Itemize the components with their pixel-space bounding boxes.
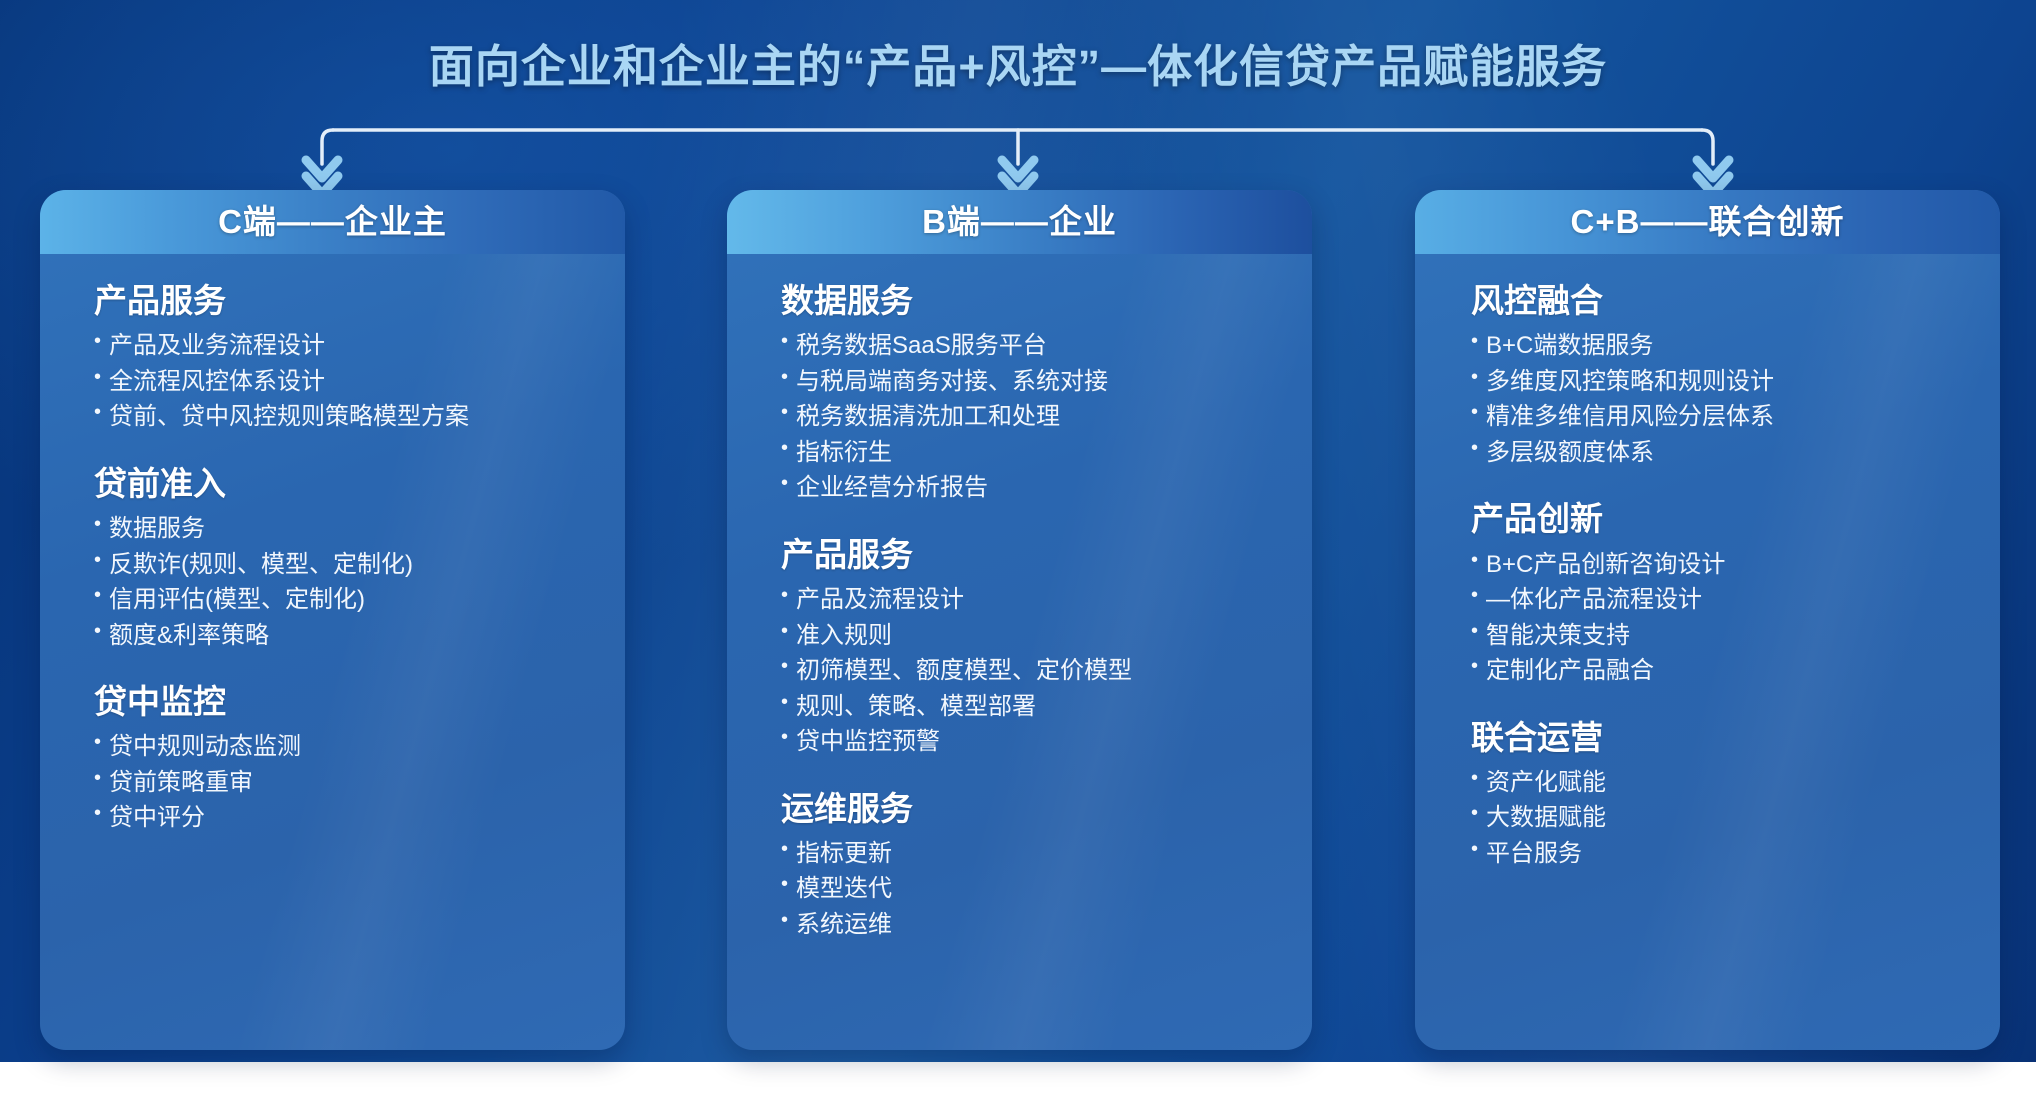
list-item: 资产化赋能 [1471,765,1982,801]
list-item: 指标更新 [781,836,1294,872]
list-item: 与税局端商务对接、系统对接 [781,364,1294,400]
section-ops-service: 运维服务 指标更新 模型迭代 系统运维 [781,788,1294,943]
section-title: 贷中监控 [94,681,607,723]
list-item: 准入规则 [781,618,1294,654]
list-item: B+C产品创新咨询设计 [1471,547,1982,583]
section-joint-operation: 联合运营 资产化赋能 大数据赋能 平台服务 [1471,717,1982,872]
card-body-b-end: 数据服务 税务数据SaaS服务平台 与税局端商务对接、系统对接 税务数据清洗加工… [727,254,1312,942]
list-item: 定制化产品融合 [1471,653,1982,689]
list-item: 贷中评分 [94,800,607,836]
list-item: 贷中规则动态监测 [94,729,607,765]
list-item: 初筛模型、额度模型、定价模型 [781,653,1294,689]
bullet-list: 指标更新 模型迭代 系统运维 [781,836,1294,943]
list-item: 模型迭代 [781,871,1294,907]
slide-canvas: 面向企业和企业主的“产品+风控”—体化信贷产品赋能服务 C端——企业主 产品服务 [0,0,2036,1110]
section-title: 贷前准入 [94,463,607,505]
list-item: 数据服务 [94,511,607,547]
card-body-c-end: 产品服务 产品及业务流程设计 全流程风控体系设计 贷前、贷中风控规则策略模型方案… [40,254,625,836]
list-item: 额度&利率策略 [94,618,607,654]
list-item: 大数据赋能 [1471,800,1982,836]
bullet-list: 贷中规则动态监测 贷前策略重审 贷中评分 [94,729,607,836]
card-body-cb-joint: 风控融合 B+C端数据服务 多维度风控策略和规则设计 精准多维信用风险分层体系 … [1415,254,2000,871]
section-title: 产品服务 [94,280,607,322]
list-item: 智能决策支持 [1471,618,1982,654]
section-product-innovation: 产品创新 B+C产品创新咨询设计 —体化产品流程设计 智能决策支持 定制化产品融… [1471,498,1982,688]
bullet-list: 产品及流程设计 准入规则 初筛模型、额度模型、定价模型 规则、策略、模型部署 贷… [781,582,1294,760]
column-card-b-end[interactable]: B端——企业 数据服务 税务数据SaaS服务平台 与税局端商务对接、系统对接 税… [727,190,1312,1050]
list-item: 系统运维 [781,907,1294,943]
bullet-list: 资产化赋能 大数据赋能 平台服务 [1471,765,1982,872]
section-title: 联合运营 [1471,717,1982,759]
column-card-cb-joint[interactable]: C+B——联合创新 风控融合 B+C端数据服务 多维度风控策略和规则设计 精准多… [1415,190,2000,1050]
section-data-service: 数据服务 税务数据SaaS服务平台 与税局端商务对接、系统对接 税务数据清洗加工… [781,280,1294,506]
section-title: 产品创新 [1471,498,1982,540]
bullet-list: B+C产品创新咨询设计 —体化产品流程设计 智能决策支持 定制化产品融合 [1471,547,1982,689]
list-item: 贷中监控预警 [781,724,1294,760]
list-item: 多层级额度体系 [1471,435,1982,471]
section-product-service: 产品服务 产品及流程设计 准入规则 初筛模型、额度模型、定价模型 规则、策略、模… [781,534,1294,760]
bullet-list: 税务数据SaaS服务平台 与税局端商务对接、系统对接 税务数据清洗加工和处理 指… [781,328,1294,506]
section-pre-loan-access: 贷前准入 数据服务 反欺诈(规则、模型、定制化) 信用评估(模型、定制化) 额度… [94,463,607,653]
bullet-list: 数据服务 反欺诈(规则、模型、定制化) 信用评估(模型、定制化) 额度&利率策略 [94,511,607,653]
list-item: 反欺诈(规则、模型、定制化) [94,547,607,583]
list-item: 企业经营分析报告 [781,470,1294,506]
section-risk-fusion: 风控融合 B+C端数据服务 多维度风控策略和规则设计 精准多维信用风险分层体系 … [1471,280,1982,470]
list-item: 精准多维信用风险分层体系 [1471,399,1982,435]
section-title: 运维服务 [781,788,1294,830]
card-header-cb-joint: C+B——联合创新 [1415,190,2000,254]
bullet-list: B+C端数据服务 多维度风控策略和规则设计 精准多维信用风险分层体系 多层级额度… [1471,328,1982,470]
list-item: 产品及业务流程设计 [94,328,607,364]
list-item: 指标衍生 [781,435,1294,471]
card-header-c-end: C端——企业主 [40,190,625,254]
list-item: 平台服务 [1471,836,1982,872]
bullet-list: 产品及业务流程设计 全流程风控体系设计 贷前、贷中风控规则策略模型方案 [94,328,607,435]
list-item: 贷前策略重审 [94,765,607,801]
section-product-service: 产品服务 产品及业务流程设计 全流程风控体系设计 贷前、贷中风控规则策略模型方案 [94,280,607,435]
list-item: 信用评估(模型、定制化) [94,582,607,618]
card-header-b-end: B端——企业 [727,190,1312,254]
column-card-c-end[interactable]: C端——企业主 产品服务 产品及业务流程设计 全流程风控体系设计 贷前、贷中风控… [40,190,625,1050]
list-item: —体化产品流程设计 [1471,582,1982,618]
connector-bracket [0,100,2036,200]
page-title: 面向企业和企业主的“产品+风控”—体化信贷产品赋能服务 [0,30,2036,95]
section-title: 风控融合 [1471,280,1982,322]
section-title: 数据服务 [781,280,1294,322]
list-item: 税务数据清洗加工和处理 [781,399,1294,435]
list-item: 全流程风控体系设计 [94,364,607,400]
section-in-loan-monitoring: 贷中监控 贷中规则动态监测 贷前策略重审 贷中评分 [94,681,607,836]
list-item: 产品及流程设计 [781,582,1294,618]
list-item: 贷前、贷中风控规则策略模型方案 [94,399,607,435]
list-item: 多维度风控策略和规则设计 [1471,364,1982,400]
list-item: 税务数据SaaS服务平台 [781,328,1294,364]
list-item: B+C端数据服务 [1471,328,1982,364]
section-title: 产品服务 [781,534,1294,576]
list-item: 规则、策略、模型部署 [781,689,1294,725]
